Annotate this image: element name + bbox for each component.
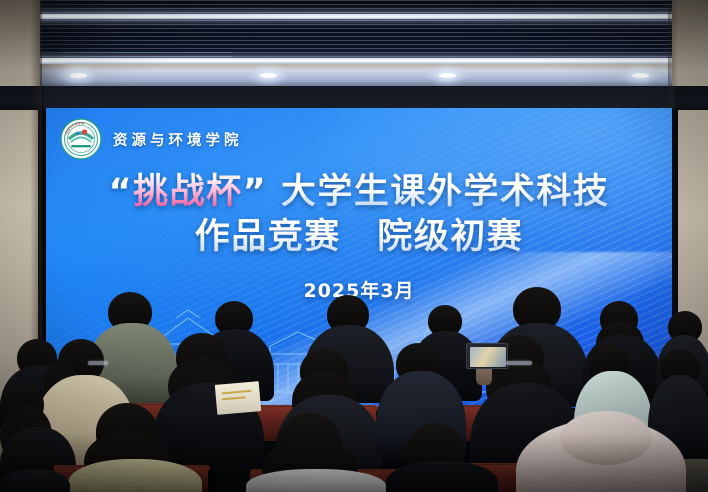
screen-header: • • 资源与环境学院 资源与环境学院 <box>60 118 243 160</box>
ceiling-light-strip-upper <box>0 14 708 19</box>
title-line-1-rest: 大学生课外学术科技 <box>267 172 609 212</box>
title-line-1: “挑战杯” 大学生课外学术科技 <box>46 170 672 215</box>
title-line-2: 作品竞赛 院级初赛 <box>46 215 672 260</box>
presentation-title-block: “挑战杯” 大学生课外学术科技 作品竞赛 院级初赛 2025年3月 <box>46 170 672 303</box>
title-quote-open: “ <box>109 172 134 212</box>
ceiling-downlight <box>632 73 649 78</box>
handout-paper <box>215 381 261 415</box>
title-quote-close: ” <box>243 172 268 212</box>
ceiling-downlight <box>439 73 456 78</box>
college-name-label: 资源与环境学院 <box>113 129 243 150</box>
auditorium-scene: • • 资源与环境学院 资源与环境学院 “挑战杯” 大学生课外学术科技 作品竞赛… <box>0 0 708 492</box>
screen-bezel-top-inner <box>44 86 674 108</box>
title-highlight-challenge-cup: 挑战杯 <box>133 172 243 212</box>
phone-device-icon <box>466 343 508 369</box>
ceiling-downlight <box>70 73 87 78</box>
ceiling-soffit <box>0 64 708 88</box>
audience-area <box>0 287 708 492</box>
ceiling-downlight <box>260 73 277 78</box>
college-emblem-icon: • • 资源与环境学院 <box>60 118 102 160</box>
